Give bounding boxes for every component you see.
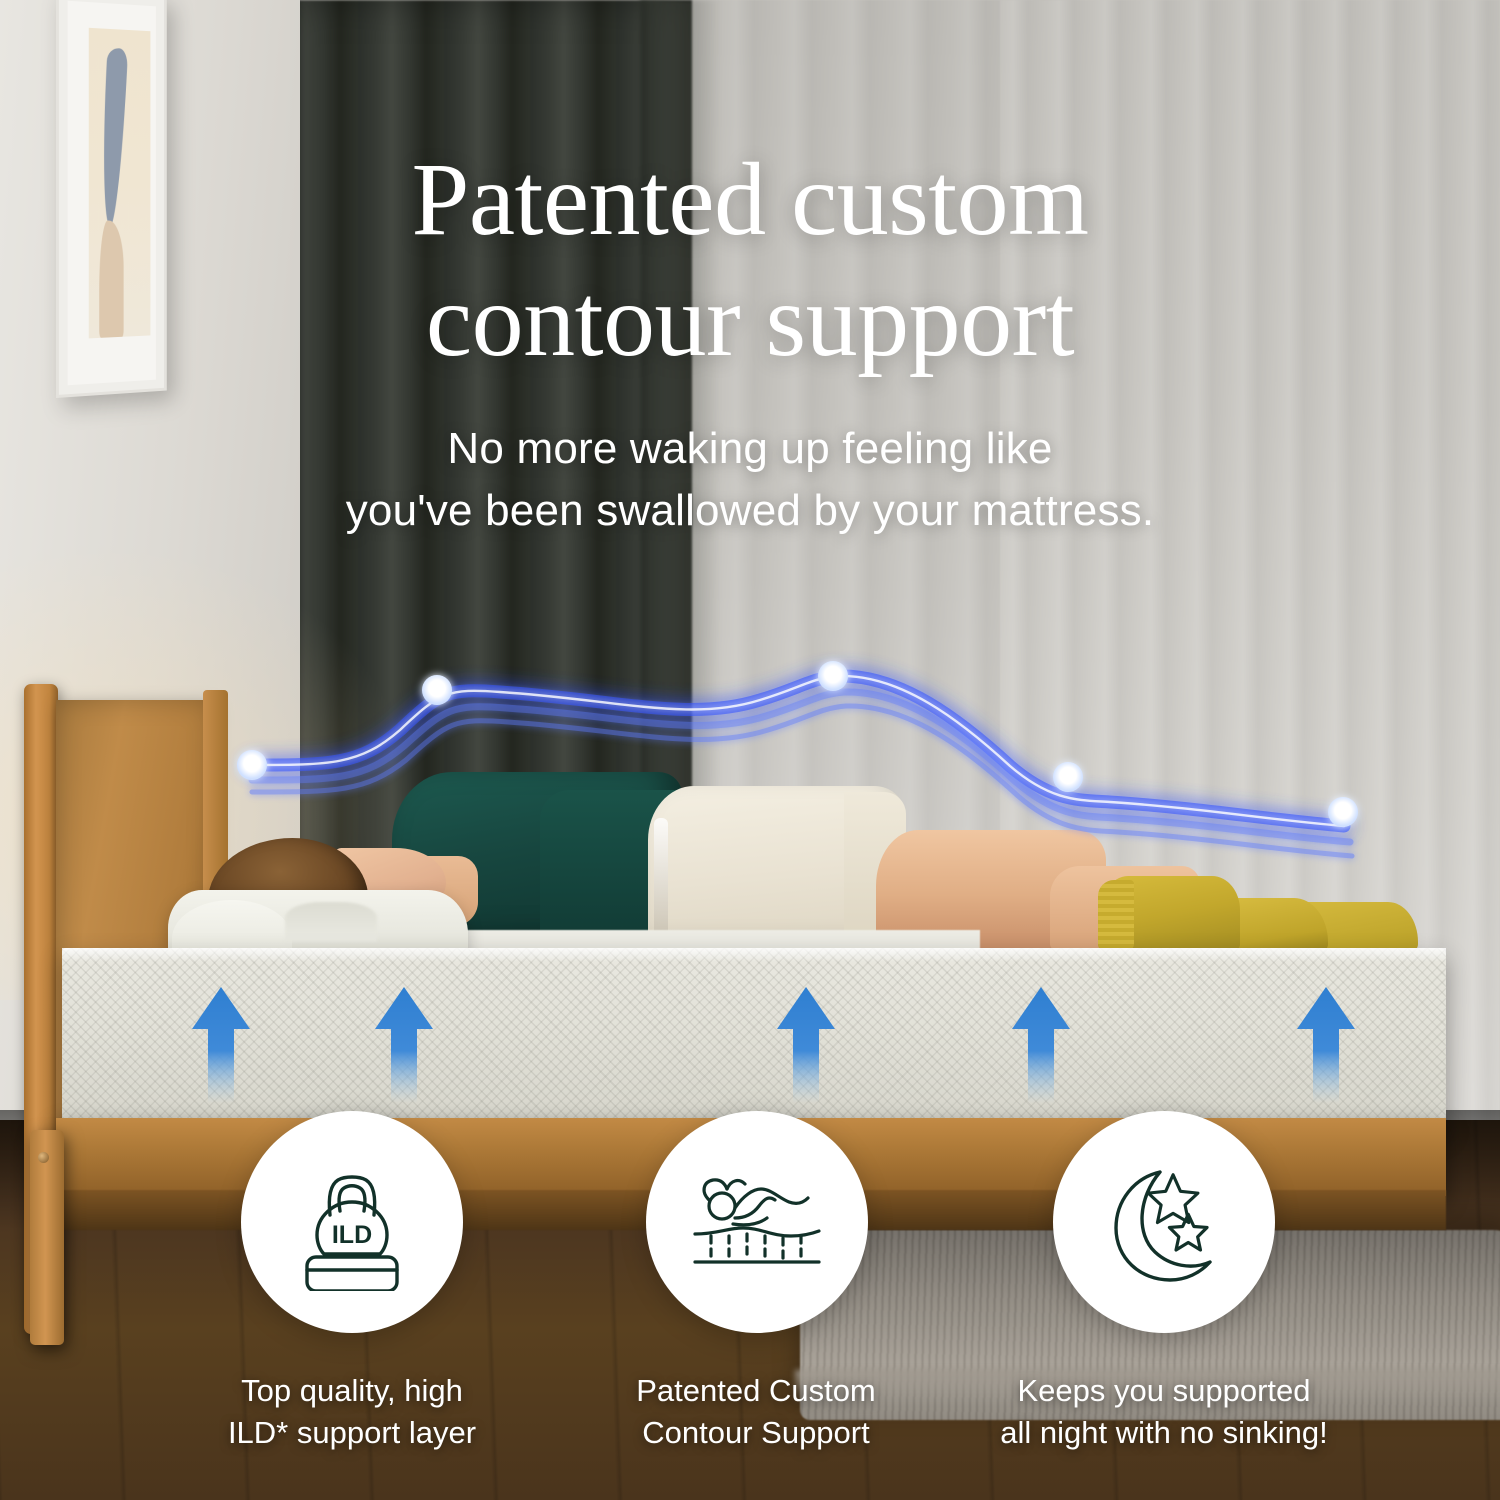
feature-caption-contour: Patented Custom Contour Support (556, 1370, 956, 1453)
caption-1-line-2: ILD* support layer (152, 1412, 552, 1454)
ild-weight-on-mattress-icon: ILD (283, 1153, 421, 1291)
subtitle-line-1: No more waking up feeling like (0, 418, 1500, 480)
ild-icon-label: ILD (332, 1221, 372, 1249)
crescent-moon-stars-icon (1096, 1154, 1232, 1290)
feature-caption-no-sinking: Keeps you supported all night with no si… (964, 1370, 1364, 1453)
support-arrow-4 (1010, 985, 1072, 1103)
bed-frame-screw (38, 1152, 49, 1163)
caption-2-line-2: Contour Support (556, 1412, 956, 1454)
page-headline: Patented custom contour support (0, 140, 1500, 381)
feature-badge-no-sinking (1053, 1111, 1275, 1333)
support-arrow-2 (373, 985, 435, 1103)
person-sleeping-on-contour-mattress-icon (687, 1156, 827, 1288)
support-arrow-1 (190, 985, 252, 1103)
support-arrow-3 (775, 985, 837, 1103)
headline-line-1: Patented custom (0, 140, 1500, 261)
bed-leg-front-left (30, 1130, 64, 1345)
caption-2-line-1: Patented Custom (556, 1370, 956, 1412)
support-arrow-5 (1295, 985, 1357, 1103)
feature-badge-ild: ILD (241, 1111, 463, 1333)
caption-3-line-2: all night with no sinking! (964, 1412, 1364, 1454)
feature-caption-ild: Top quality, high ILD* support layer (152, 1370, 552, 1453)
feature-badge-contour (646, 1111, 868, 1333)
subtitle-line-2: you've been swallowed by your mattress. (0, 480, 1500, 542)
spine-alignment-wave (0, 580, 1500, 1040)
product-marketing-image: Patented custom contour support No more … (0, 0, 1500, 1500)
page-subtitle: No more waking up feeling like you've be… (0, 418, 1500, 543)
caption-3-line-1: Keeps you supported (964, 1370, 1364, 1412)
headline-line-2: contour support (0, 261, 1500, 382)
caption-1-line-1: Top quality, high (152, 1370, 552, 1412)
